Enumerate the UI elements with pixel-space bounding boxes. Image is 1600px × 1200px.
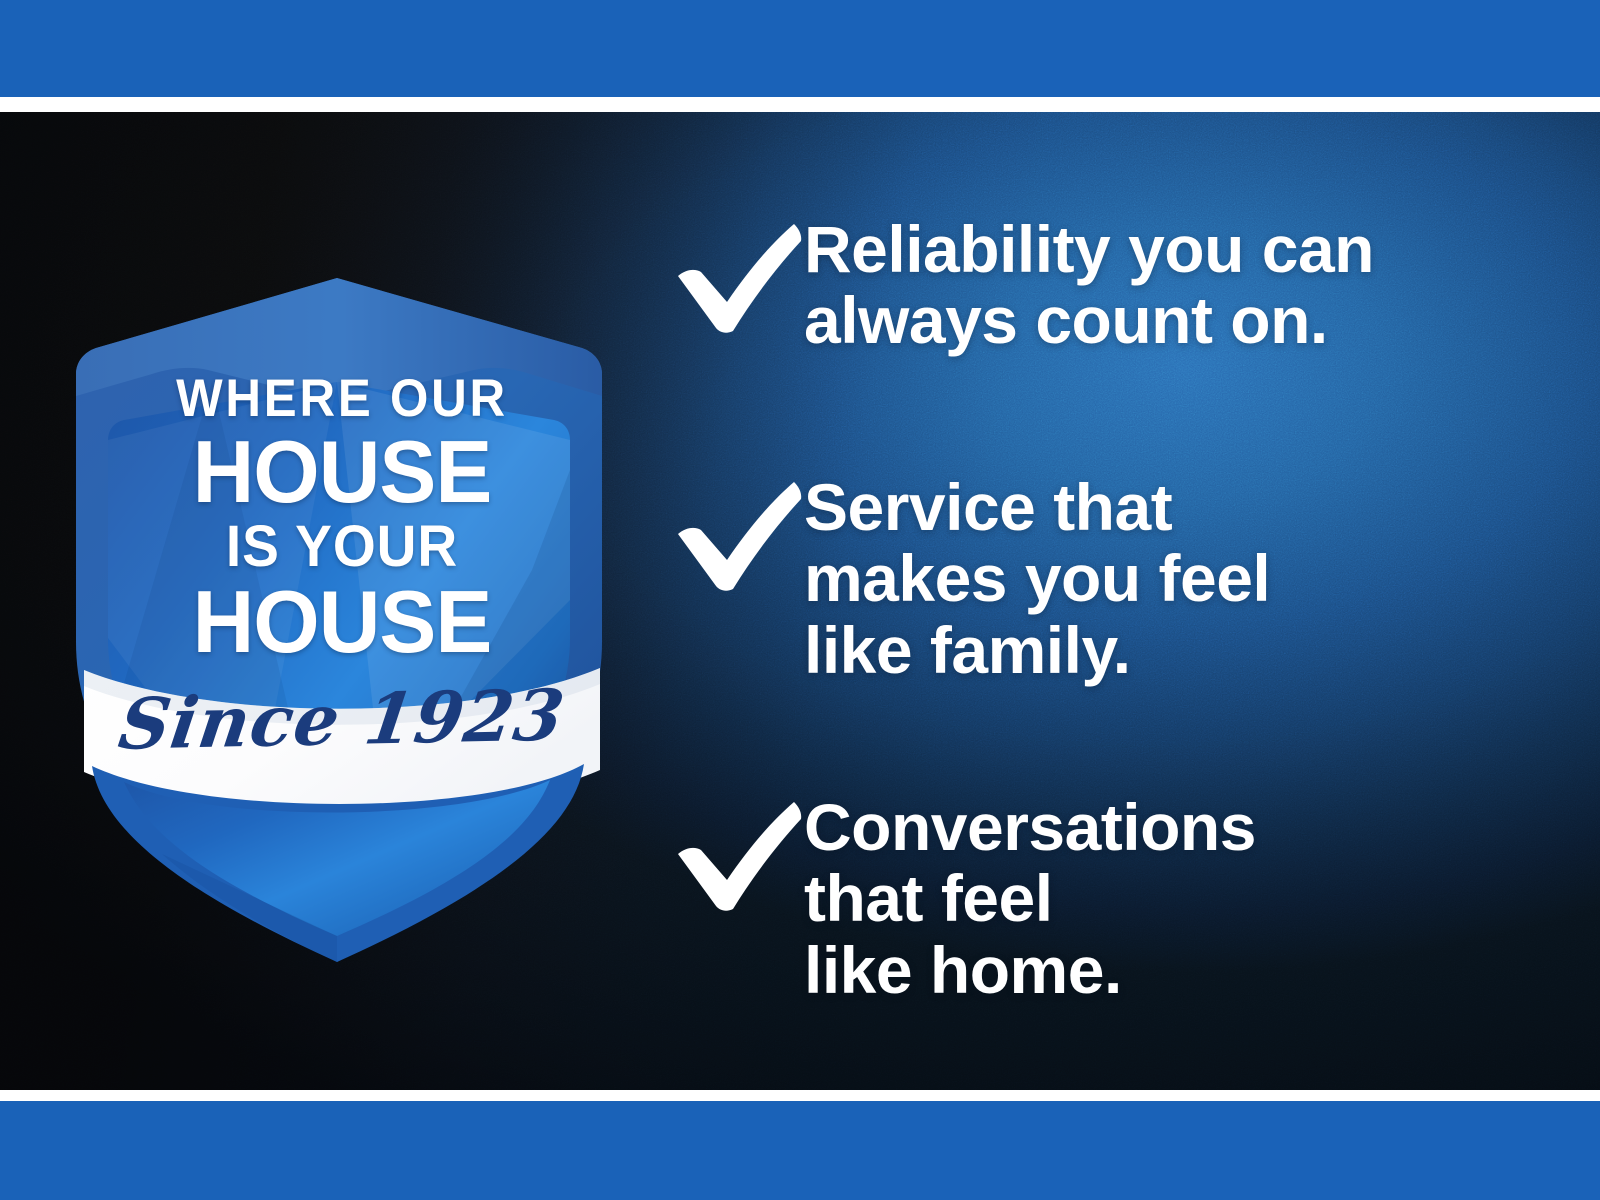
checkmark-icon (672, 478, 804, 594)
top-brand-bar (0, 0, 1600, 97)
benefit-line-2: always count on. (804, 285, 1552, 356)
bottom-brand-bar (0, 1101, 1600, 1200)
benefit-line-2: makes you feel (804, 543, 1552, 614)
benefit-item-service: Service that makes you feel like family. (672, 470, 1552, 686)
benefit-line-2: that feel (804, 863, 1552, 934)
benefit-item-reliability: Reliability you can always count on. (672, 212, 1552, 357)
shield-badge: Where Our House Is Your House Since 1923 (62, 270, 622, 970)
banner-canvas: Where Our House Is Your House Since 1923… (0, 112, 1600, 1090)
shield-line-where-our: Where Our (82, 372, 603, 425)
benefit-line-1: Conversations (804, 792, 1552, 863)
benefit-line-1: Service that (804, 472, 1552, 543)
checkmark-icon (672, 220, 804, 336)
benefit-line-1: Reliability you can (804, 214, 1552, 285)
shield-banner-since-year: Since 1923 (56, 672, 627, 767)
benefit-text-reliability: Reliability you can always count on. (804, 212, 1552, 357)
benefit-line-3: like home. (804, 935, 1552, 1006)
banner-root: Where Our House Is Your House Since 1923… (0, 0, 1600, 1200)
benefit-text-conversations: Conversations that feel like home. (804, 790, 1552, 1006)
shield-line-is-your: Is Your (76, 518, 608, 576)
benefit-item-conversations: Conversations that feel like home. (672, 790, 1552, 1006)
benefit-line-3: like family. (804, 615, 1552, 686)
benefit-text-service: Service that makes you feel like family. (804, 470, 1552, 686)
checkmark-icon (672, 798, 804, 914)
shield-line-house-2: House (70, 578, 613, 666)
shield-line-house-1: House (70, 428, 613, 516)
